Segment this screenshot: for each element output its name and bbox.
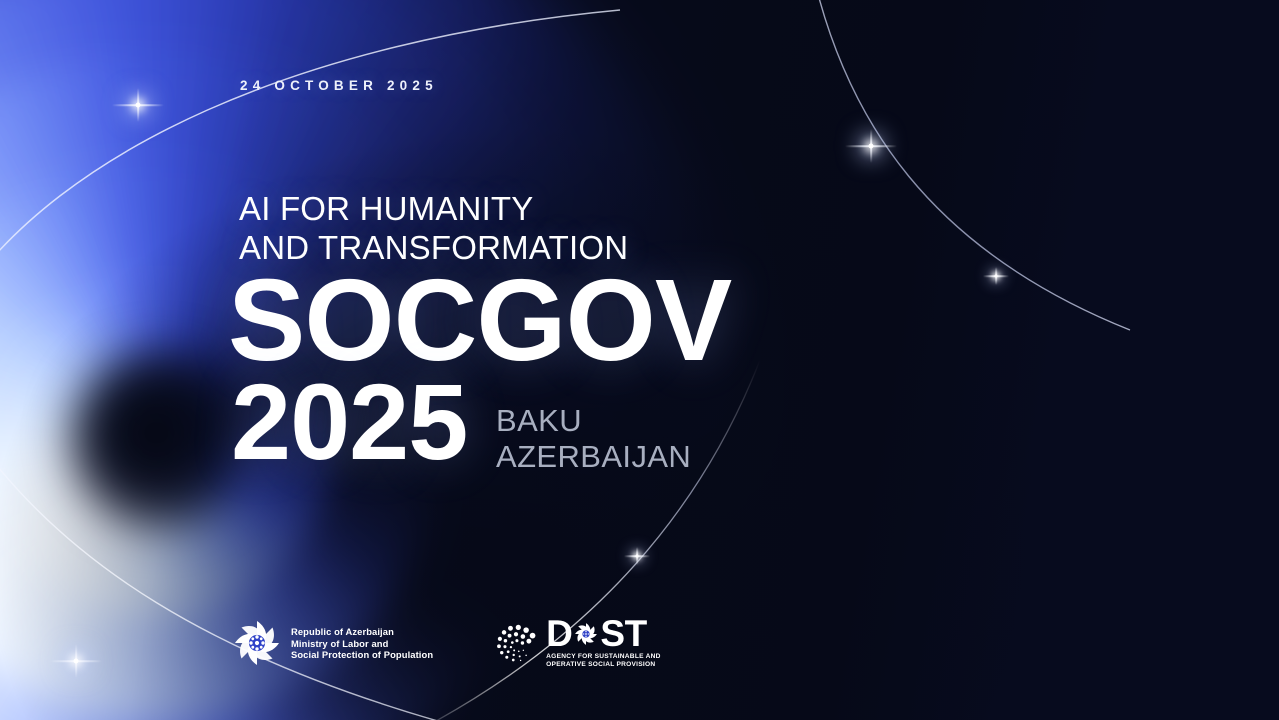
ministry-logo: Republic of Azerbaijan Ministry of Labor… [232,618,433,668]
dost-letters-st: ST [600,617,646,650]
event-location: BAKU AZERBAIJAN [496,403,691,475]
ministry-logo-text: Republic of Azerbaijan Ministry of Labor… [291,626,433,660]
event-wordmark: SOCGOV [228,272,731,368]
event-year: 2025 [231,374,467,470]
event-date: 24 OCTOBER 2025 [240,78,438,93]
dost-letter-d: D [546,617,572,650]
content-layer: 24 OCTOBER 2025 AI FOR HUMANITY AND TRAN… [0,0,1279,720]
dost-logo: D [493,617,660,669]
dost-wordmark: D [546,617,660,650]
dost-eight-point-star-icon [573,621,599,647]
dost-tagline: AGENCY FOR SUSTAINABLE AND OPERATIVE SOC… [546,653,660,669]
title-slide: 24 OCTOBER 2025 AI FOR HUMANITY AND TRAN… [0,0,1279,720]
dost-wordmark-block: D [546,617,660,669]
logo-lockups: Republic of Azerbaijan Ministry of Labor… [232,617,661,669]
dost-dotted-spiral-icon [493,620,539,666]
azerbaijan-eight-point-star-emblem-icon [232,618,282,668]
